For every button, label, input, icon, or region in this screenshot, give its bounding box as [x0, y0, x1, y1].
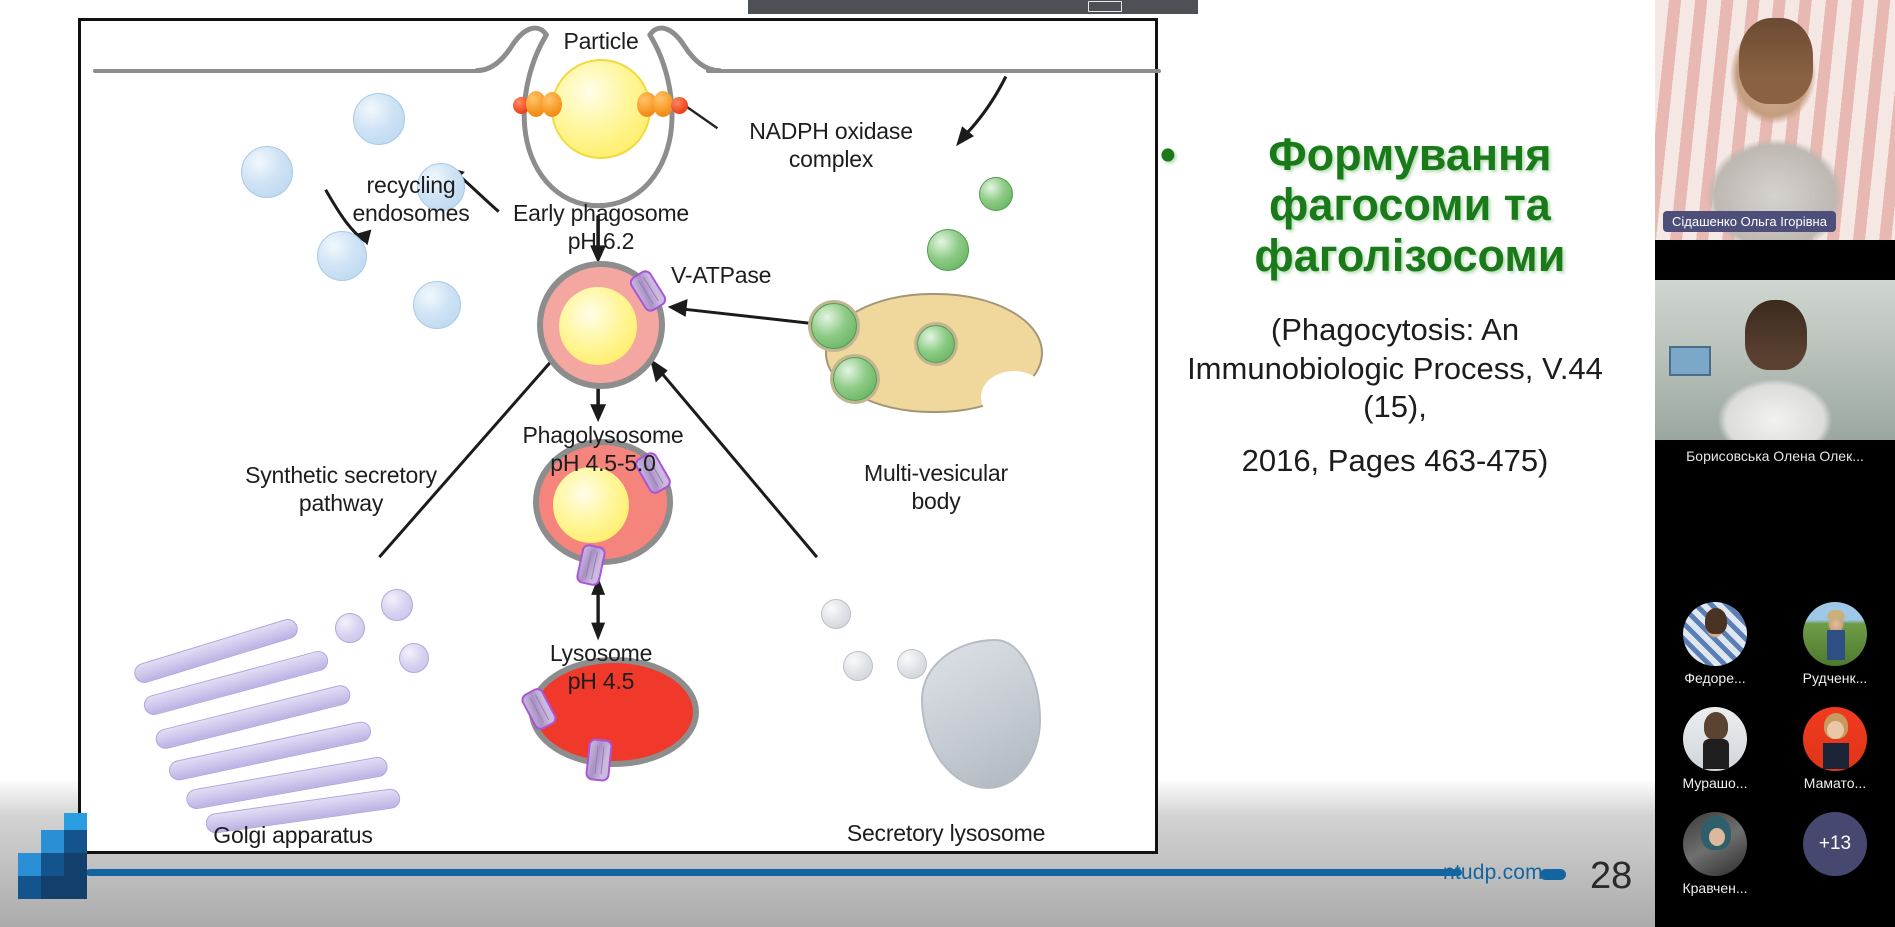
avatar-name: Кравчен... — [1655, 880, 1775, 896]
footer-site-url: ntudp.com — [1443, 861, 1543, 885]
label-multi-vesicular-body: Multi-vesicular body — [821, 459, 1051, 515]
avatar-overflow-count: +13 — [1803, 812, 1867, 876]
meeting-toolbar[interactable] — [748, 0, 1198, 14]
speaker-name-badge: Сідашенко Ольга Ігорівна — [1663, 211, 1836, 232]
secretory-vesicle — [335, 613, 365, 643]
slide-citation: (Phagocytosis: An Immunobiologic Process… — [1160, 311, 1630, 481]
gray-vesicle — [897, 649, 927, 679]
label-phagolysosome: Phagolysosome pH 4.5-5.0 — [491, 421, 715, 477]
avatar-name: Федоре... — [1655, 670, 1775, 686]
citation-main: (Phagocytosis: An Immunobiologic Process… — [1187, 312, 1603, 424]
avatar — [1803, 707, 1867, 771]
secretory-lysosome-body — [921, 639, 1041, 789]
footer-rule — [86, 869, 1462, 876]
participant-video-frame — [1655, 280, 1895, 440]
avatar-cell[interactable]: Мурашо... — [1655, 705, 1775, 810]
avatar-name: Мамато... — [1775, 775, 1895, 791]
participant-name-label: Борисовська Олена Олек... — [1655, 448, 1895, 464]
slide-text-column: • Формування фагосоми та фаголізосоми (P… — [1160, 130, 1630, 481]
gray-vesicle — [843, 651, 873, 681]
nadph-oxidase-left — [513, 89, 565, 121]
endosome-vesicle — [317, 231, 367, 281]
avatar-name: Рудченк... — [1775, 670, 1895, 686]
label-golgi-apparatus: Golgi apparatus — [183, 821, 403, 849]
label-early-phagosome: Early phagosome pH 6.2 — [493, 199, 709, 255]
membrane-left — [93, 69, 479, 73]
label-nadph-oxidase: NADPH oxidase complex — [721, 117, 941, 173]
avatar-cell[interactable]: Федоре... — [1655, 600, 1775, 705]
gray-vesicle — [821, 599, 851, 629]
green-vesicle — [927, 229, 969, 271]
label-recycling-endosomes: recycling endosomes — [321, 171, 501, 227]
secretory-vesicle — [381, 589, 413, 621]
slide-heading: • Формування фагосоми та фаголізосоми — [1160, 130, 1630, 281]
participant-video-tile[interactable] — [1655, 280, 1895, 440]
green-vesicle-in-mvb — [811, 303, 857, 349]
avatar-overflow-cell[interactable]: +13 — [1775, 810, 1895, 915]
diagram-figure: Particle NADPH oxidase complex recycling… — [78, 18, 1158, 854]
membrane-right — [706, 69, 1161, 73]
speaker-video-tile[interactable]: Сідашенко Ольга Ігорівна — [1655, 0, 1895, 240]
mvb-notch — [981, 371, 1047, 423]
avatar-cell[interactable]: Кравчен... — [1655, 810, 1775, 915]
speaker-video-frame — [1655, 0, 1895, 240]
v-atpase-pump — [585, 738, 613, 782]
avatar-cell[interactable]: Рудченк... — [1775, 600, 1895, 705]
avatar — [1803, 602, 1867, 666]
bullet-icon: • — [1160, 130, 1176, 180]
citation-last: 2016, Pages 463-475) — [1160, 442, 1630, 480]
endosome-vesicle — [413, 281, 461, 329]
avatar-name: Мурашо... — [1655, 775, 1775, 791]
sidebar-spacer — [1655, 240, 1895, 280]
endosome-vesicle — [241, 146, 293, 198]
page-number: 28 — [1590, 855, 1632, 898]
avatar — [1683, 602, 1747, 666]
label-synthetic-pathway: Synthetic secretory pathway — [211, 461, 471, 517]
label-v-atpase: V-ATPase — [671, 261, 811, 289]
participants-sidebar[interactable]: Сідашенко Ольга Ігорівна Борисовська Оле… — [1655, 0, 1895, 927]
avatar — [1683, 707, 1747, 771]
label-secretory-lysosome: Secretory lysosome — [821, 819, 1071, 847]
label-particle: Particle — [531, 27, 671, 55]
green-vesicle-in-mvb — [833, 357, 877, 401]
endosome-vesicle — [353, 93, 405, 145]
avatar-cell[interactable]: Мамато... — [1775, 705, 1895, 810]
particle-body — [551, 59, 651, 159]
footer-pill — [1540, 869, 1566, 880]
secretory-vesicle — [399, 643, 429, 673]
nadph-oxidase-right — [637, 89, 689, 121]
institution-logo — [18, 813, 88, 899]
green-vesicle — [979, 177, 1013, 211]
avatar — [1683, 812, 1747, 876]
toolbar-button[interactable] — [1088, 1, 1122, 12]
green-vesicle-in-mvb — [917, 325, 955, 363]
screen-root: Particle NADPH oxidase complex recycling… — [0, 0, 1895, 927]
label-lysosome: Lysosome pH 4.5 — [511, 639, 691, 695]
slide-heading-text: Формування фагосоми та фаголізосоми — [1190, 130, 1630, 281]
